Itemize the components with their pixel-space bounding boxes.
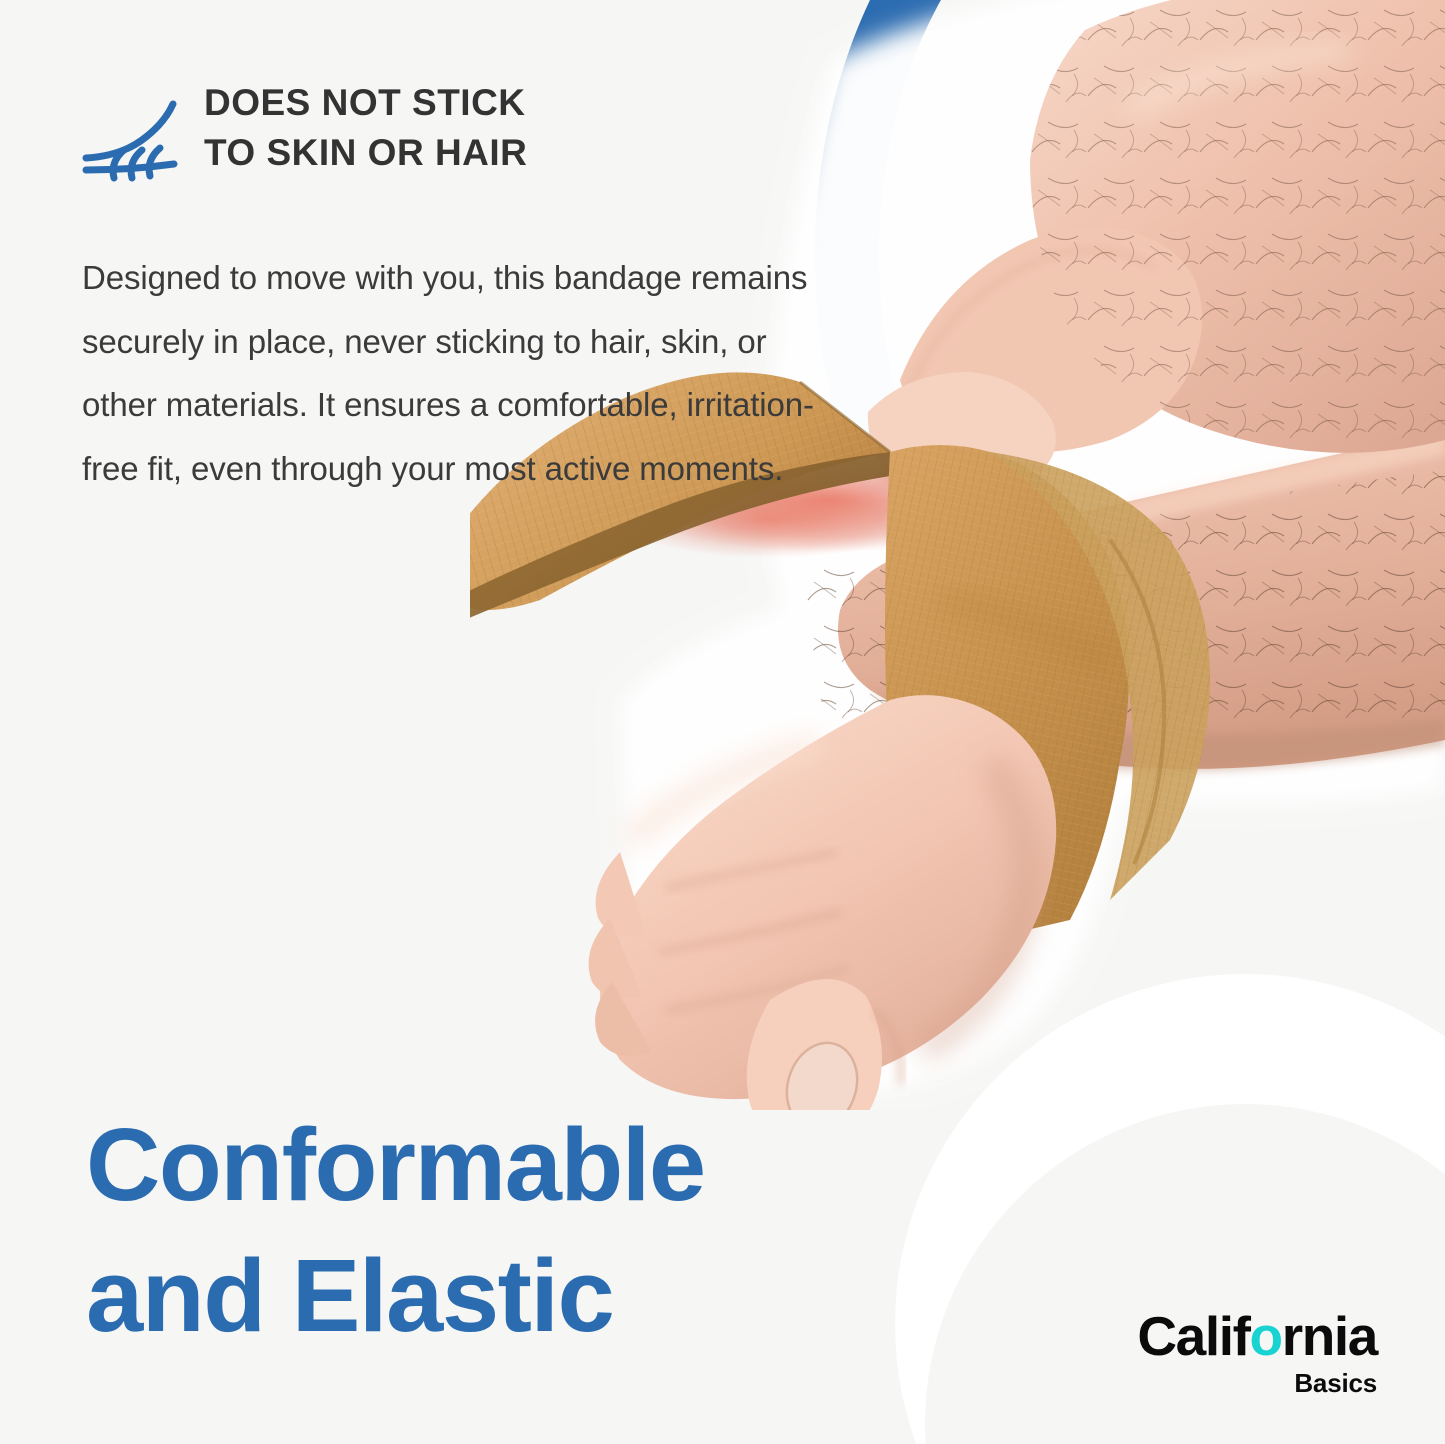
- brand-name-part-2: rnia: [1282, 1305, 1377, 1367]
- product-feature-card: DOES NOT STICK TO SKIN OR HAIR Designed …: [0, 0, 1445, 1444]
- non-stick-bandage-over-hair-icon: [80, 92, 180, 184]
- feature-description: Designed to move with you, this bandage …: [82, 246, 822, 501]
- feature-eyebrow: DOES NOT STICK TO SKIN OR HAIR: [80, 78, 700, 184]
- brand-name: California: [1137, 1309, 1377, 1364]
- brand-logo: California Basics: [1137, 1309, 1377, 1396]
- brand-name-teal-o: o: [1250, 1305, 1282, 1367]
- brand-subtitle: Basics: [1137, 1370, 1377, 1396]
- feature-title: DOES NOT STICK TO SKIN OR HAIR: [204, 78, 527, 177]
- brand-name-part-1: Calif: [1137, 1305, 1249, 1367]
- headline: Conformable and Elastic: [86, 1100, 916, 1362]
